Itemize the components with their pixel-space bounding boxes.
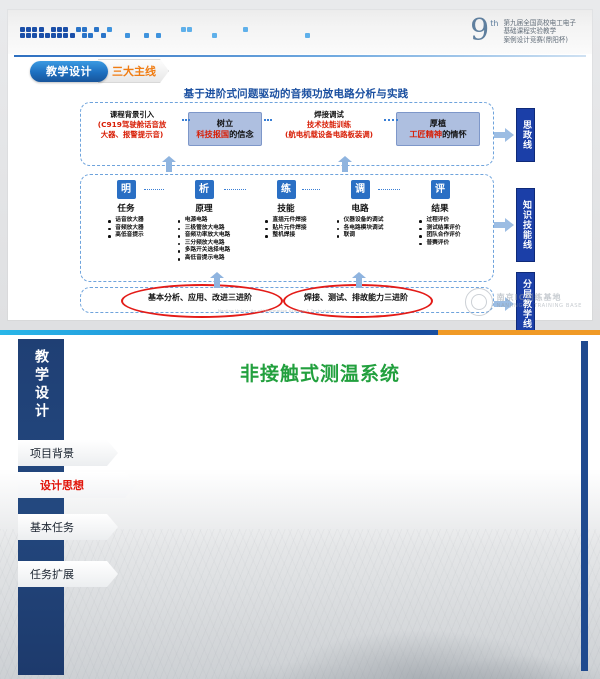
dotted-connector-0 bbox=[182, 119, 190, 121]
slide1-header-rule bbox=[14, 55, 586, 57]
slide1-canvas: 9 th 第九届全国高校电工电子 基础课程实验教学 案例设计竞赛(鼎阳杯) 教学… bbox=[8, 10, 592, 320]
base-logo-text: 南京IC训练基地 NANJING IC TRAINING BASE bbox=[497, 294, 582, 310]
column-heading: 任务 bbox=[86, 202, 166, 214]
base-name-cn: 南京IC训练基地 bbox=[497, 294, 582, 302]
diagram-cell-box: 树立科技报国的信念 bbox=[188, 112, 262, 146]
pixel-mosaic-decoration bbox=[20, 27, 380, 43]
column-item: 高低音提示电路 bbox=[178, 255, 231, 263]
three-mainlines-diagram: 基于进阶式问题驱动的音频功放电路分析与实践 课程背景引入(C919驾驶舱话音放大… bbox=[70, 86, 522, 321]
seal-icon bbox=[465, 288, 493, 316]
column-item: 整机焊接 bbox=[265, 232, 306, 240]
column-item: 音频功率放大电路 bbox=[178, 232, 231, 240]
slide2-title: 非接触式测温系统 bbox=[0, 359, 600, 386]
column-item: 团队合作评价 bbox=[419, 232, 460, 240]
slide2-right-accent-bar bbox=[581, 341, 588, 671]
side-label-group-knowledge: 知识技能线 bbox=[494, 188, 535, 262]
up-arrow-icon-3 bbox=[210, 272, 224, 288]
column-item: 话音放大器 bbox=[108, 217, 143, 225]
slide-teaching-design: 9 th 第九届全国高校电工电子 基础课程实验教学 案例设计竞赛(鼎阳杯) 教学… bbox=[0, 0, 600, 330]
up-arrow-icon-2 bbox=[338, 156, 352, 172]
competition-title-text: 第九届全国高校电工电子 基础课程实验教学 案例设计竞赛(鼎阳杯) bbox=[503, 19, 576, 44]
diagram-cell-text: 焊接调试技术技能训练(航电机载设备电路板装调) bbox=[270, 110, 388, 140]
column-heading: 原理 bbox=[164, 202, 244, 214]
slide-design-concept: 教学设计 项目背景设计思想基本任务任务扩展 非接触式测温系统 数据统计分析(提升… bbox=[0, 335, 600, 679]
column-tag: 练 bbox=[277, 180, 296, 199]
diagram-cell-text: 课程背景引入(C919驾驶舱话音放大器、报警提示音) bbox=[84, 110, 180, 140]
sidebar-item-0[interactable]: 项目背景 bbox=[18, 440, 118, 466]
column-list: 仪器设备的调试各电路模块调试联调 bbox=[337, 217, 384, 240]
competition-line-2: 基础课程实验教学 bbox=[503, 27, 576, 35]
column-item: 联调 bbox=[337, 232, 384, 240]
column-list: 电源电路三极管放大电路音频功率放大电路三分频放大电路多路开关选择电路高低音提示电… bbox=[178, 217, 231, 263]
presentation-page: 9 th 第九届全国高校电工电子 基础课程实验教学 案例设计竞赛(鼎阳杯) 教学… bbox=[0, 0, 600, 679]
column-connector-3 bbox=[378, 189, 400, 190]
column-heading: 结果 bbox=[400, 202, 480, 214]
column-item: 过程评价 bbox=[419, 217, 460, 225]
slide1-base-logo: 南京IC训练基地 NANJING IC TRAINING BASE bbox=[465, 288, 582, 316]
column-item: 高低音提示 bbox=[108, 232, 143, 240]
diagram-row1-box-1: 树立科技报国的信念 bbox=[188, 112, 262, 146]
column-list: 直插元件焊接贴片元件焊接整机焊接 bbox=[265, 217, 306, 240]
column-list: 过程评价测试结果评价团队合作评价普赛评价 bbox=[419, 217, 460, 247]
column-heading: 电路 bbox=[320, 202, 400, 214]
column-item: 直插元件焊接 bbox=[265, 217, 306, 225]
rank-suffix: th bbox=[490, 19, 498, 28]
dotted-connector-1 bbox=[264, 119, 272, 121]
side-label-knowledge: 知识技能线 bbox=[516, 188, 535, 262]
right-arrow-icon-1 bbox=[494, 128, 514, 142]
diagram-row1-text-0: 课程背景引入(C919驾驶舱话音放大器、报警提示音) bbox=[84, 110, 180, 140]
sidebar-item-1[interactable]: 设计思想 bbox=[18, 472, 136, 498]
competition-logo: 9 th 第九届全国高校电工电子 基础课程实验教学 案例设计竞赛(鼎阳杯) bbox=[470, 16, 576, 46]
side-label-group-ideology: 思政线 bbox=[494, 108, 535, 162]
column-item: 多路开关选择电路 bbox=[178, 247, 231, 255]
column-list: 话音放大器音频放大器高低音提示 bbox=[108, 217, 143, 240]
diagram-column-析: 析原理电源电路三极管放大电路音频功率放大电路三分频放大电路多路开关选择电路高低音… bbox=[164, 180, 244, 263]
column-tag: 析 bbox=[195, 180, 214, 199]
up-arrow-icon-4 bbox=[352, 272, 366, 288]
side-label-ideology: 思政线 bbox=[516, 108, 535, 162]
column-tag: 评 bbox=[431, 180, 450, 199]
column-tag: 明 bbox=[117, 180, 136, 199]
up-arrow-icon-1 bbox=[162, 156, 176, 172]
breadcrumb-secondary[interactable]: 三大主线 bbox=[98, 59, 169, 83]
sidebar-item-2[interactable]: 基本任务 bbox=[18, 514, 118, 540]
slide1-fine-print: Nanjing University of Information Scienc… bbox=[218, 309, 334, 313]
column-connector-0 bbox=[144, 189, 164, 190]
rank-number: 9 bbox=[470, 16, 489, 46]
mountain-texture bbox=[0, 529, 600, 679]
diagram-row1-box-3: 厚植工匠精神的情怀 bbox=[396, 112, 480, 146]
breadcrumb: 教学设计 三大主线 bbox=[30, 60, 169, 82]
competition-line-3: 案例设计竞赛(鼎阳杯) bbox=[503, 36, 576, 44]
column-heading: 技能 bbox=[246, 202, 326, 214]
diagram-cell-box: 厚植工匠精神的情怀 bbox=[396, 112, 480, 146]
column-tag: 调 bbox=[351, 180, 370, 199]
diagram-column-评: 评结果过程评价测试结果评价团队合作评价普赛评价 bbox=[400, 180, 480, 248]
column-item: 仪器设备的调试 bbox=[337, 217, 384, 225]
breadcrumb-primary[interactable]: 教学设计 bbox=[30, 61, 108, 82]
column-connector-2 bbox=[302, 189, 320, 190]
base-name-en: NANJING IC TRAINING BASE bbox=[497, 302, 582, 310]
diagram-title: 基于进阶式问题驱动的音频功放电路分析与实践 bbox=[70, 86, 522, 101]
column-connector-1 bbox=[224, 189, 246, 190]
right-arrow-icon-2 bbox=[494, 218, 514, 232]
diagram-row1-text-2: 焊接调试技术技能训练(航电机载设备电路板装调) bbox=[270, 110, 388, 140]
column-item: 电源电路 bbox=[178, 217, 231, 225]
dotted-connector-2 bbox=[384, 119, 398, 121]
column-item: 普赛评价 bbox=[419, 240, 460, 248]
sidebar-item-3[interactable]: 任务扩展 bbox=[18, 561, 118, 587]
